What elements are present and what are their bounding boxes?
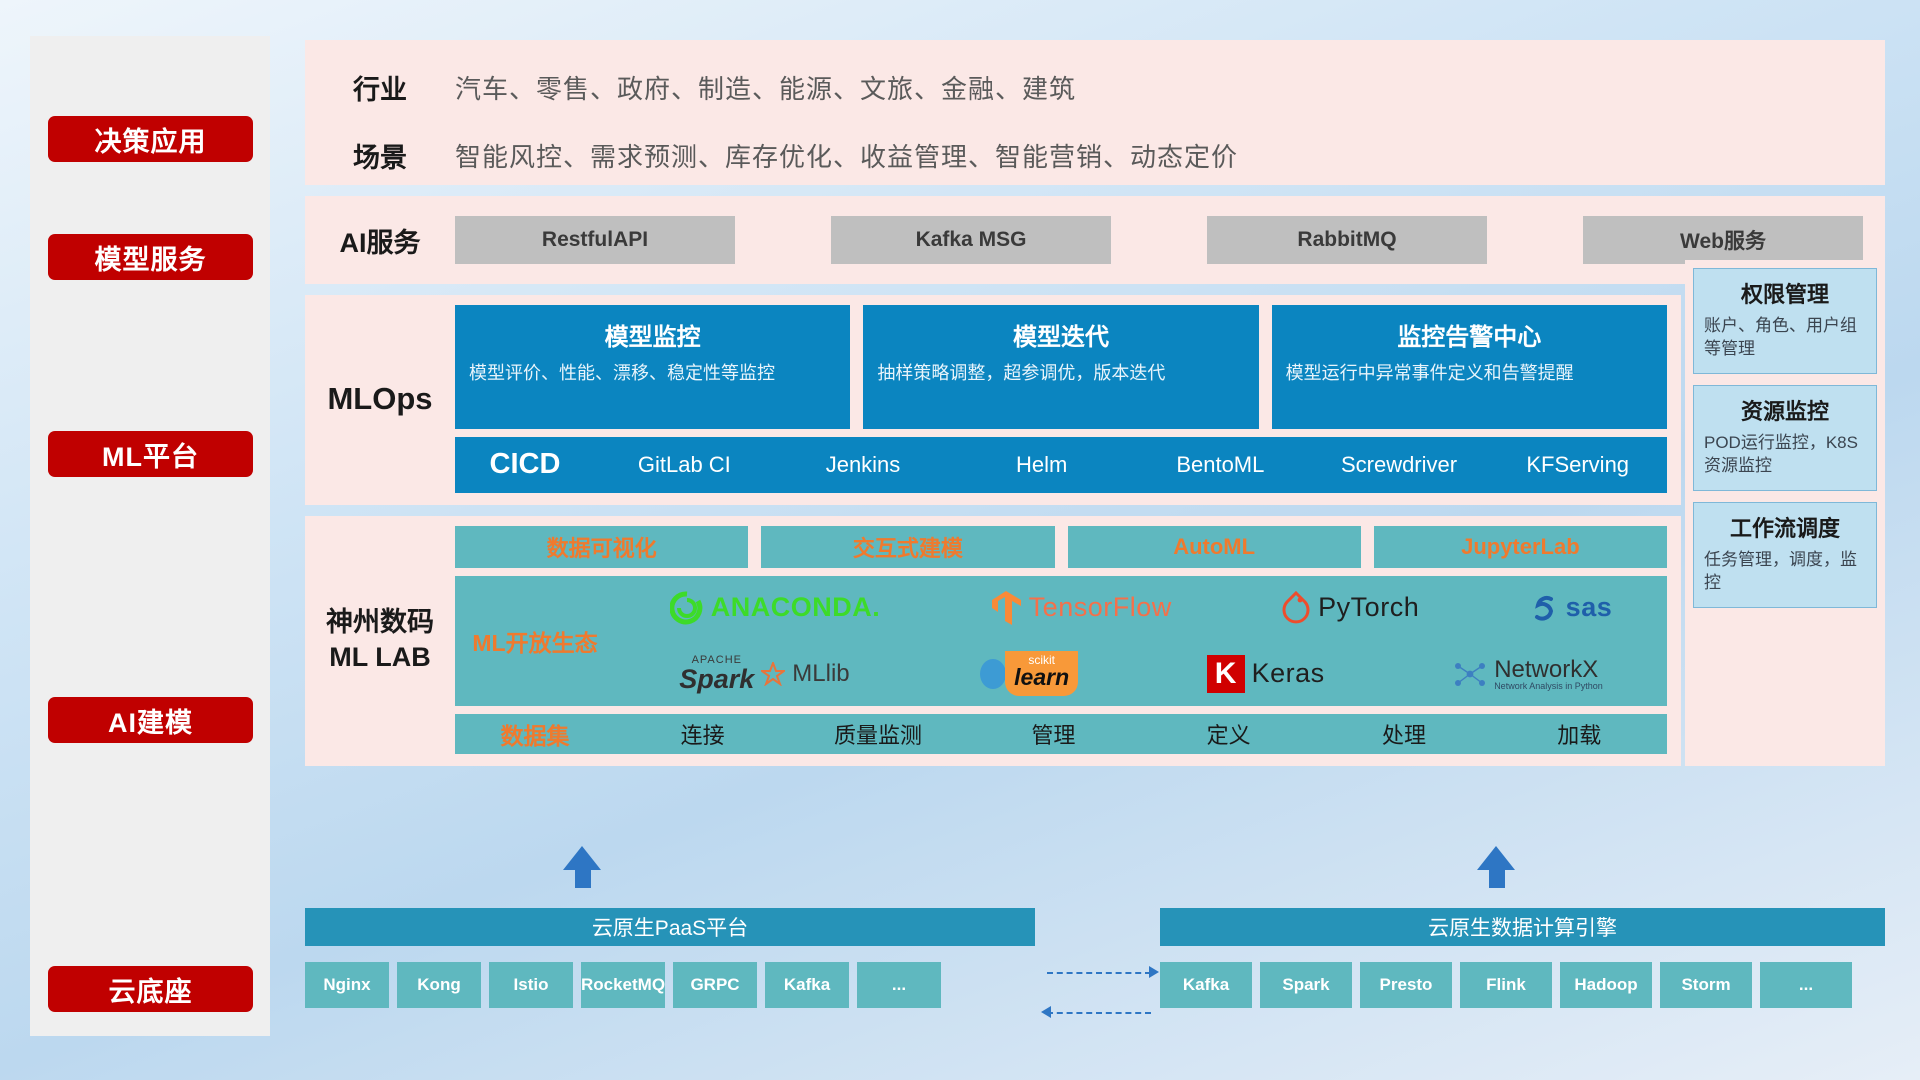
tensorflow-label: TensorFlow (1029, 592, 1172, 623)
dataset-item-define[interactable]: 定义 (1141, 718, 1316, 750)
cicd-item[interactable]: Helm (952, 451, 1131, 479)
tensorflow-logo: TensorFlow (990, 590, 1172, 626)
mlops-card[interactable]: 监控告警中心 模型运行中异常事件定义和告警提醒 (1272, 305, 1667, 429)
pytorch-label: PyTorch (1318, 592, 1419, 623)
paas-to-engine-connector (1047, 972, 1151, 974)
engine-chip-hadoop[interactable]: Hadoop (1560, 962, 1652, 1008)
scenario-value: 智能风控、需求预测、库存优化、收益管理、智能营销、动态定价 (455, 137, 1238, 174)
cicd-item[interactable]: GitLab CI (595, 451, 774, 479)
mlops-card[interactable]: 模型迭代 抽样策略调整，超参调优，版本迭代 (863, 305, 1258, 429)
rail-item-model-service[interactable]: 模型服务 (48, 234, 253, 280)
pytorch-icon (1281, 591, 1311, 625)
ml-lab-label: 神州数码 ML LAB (305, 526, 455, 754)
tool-tab-automl[interactable]: AutoML (1068, 526, 1361, 568)
panel-title: 工作流调度 (1704, 511, 1866, 543)
cicd-item[interactable]: BentoML (1131, 451, 1310, 479)
ml-ecosystem-label: ML开放生态 (455, 624, 615, 658)
mlops-card-title: 监控告警中心 (1286, 317, 1653, 352)
mlops-section: MLOps 模型监控 模型评价、性能、漂移、稳定性等监控 模型迭代 抽样策略调整… (305, 295, 1681, 505)
ml-platform-band: MLOps 模型监控 模型评价、性能、漂移、稳定性等监控 模型迭代 抽样策略调整… (305, 295, 1885, 505)
dataset-item-process[interactable]: 处理 (1316, 718, 1491, 750)
engine-chip-flink[interactable]: Flink (1460, 962, 1552, 1008)
paas-chip-istio[interactable]: Istio (489, 962, 573, 1008)
run-monitor-panel-resource[interactable]: 资源监控 POD运行监控，K8S资源监控 (1693, 385, 1877, 491)
mlops-card-list: 模型监控 模型评价、性能、漂移、稳定性等监控 模型迭代 抽样策略调整，超参调优，… (455, 305, 1667, 429)
mlops-card-desc: 模型评价、性能、漂移、稳定性等监控 (469, 361, 836, 385)
ai-service-chip[interactable]: Web服务 (1583, 216, 1863, 264)
dataset-item-connect[interactable]: 连接 (615, 718, 790, 750)
paas-chip-list: Nginx Kong Istio RocketMQ GRPC Kafka ... (305, 962, 941, 1008)
mlops-card[interactable]: 模型监控 模型评价、性能、漂移、稳定性等监控 (455, 305, 850, 429)
paas-chip-grpc[interactable]: GRPC (673, 962, 757, 1008)
dataset-row: 数据集 连接 质量监测 管理 定义 处理 加载 (455, 714, 1667, 754)
ml-lab-section: 神州数码 ML LAB 数据可视化 交互式建模 AutoML JupyterLa… (305, 516, 1681, 766)
cicd-bar: CICD GitLab CI Jenkins Helm BentoML Scre… (455, 437, 1667, 493)
networkx-icon (1453, 659, 1487, 689)
anaconda-icon (670, 591, 704, 625)
anaconda-logo: ANACONDA. (670, 591, 881, 625)
keras-label: Keras (1252, 658, 1325, 689)
ai-service-chip-list: RestfulAPI Kafka MSG RabbitMQ Web服务 (455, 216, 1885, 264)
paas-chip-kong[interactable]: Kong (397, 962, 481, 1008)
engine-chip-spark[interactable]: Spark (1260, 962, 1352, 1008)
layer-rail: 决策应用 模型服务 ML平台 AI建模 云底座 (30, 36, 270, 1036)
panel-desc: POD运行监控，K8S资源监控 (1704, 432, 1866, 478)
pytorch-logo: PyTorch (1281, 591, 1419, 625)
keras-logo: K Keras (1207, 655, 1325, 693)
networkx-tagline: Network Analysis in Python (1494, 682, 1603, 691)
panel-desc: 账户、角色、用户组等管理 (1704, 315, 1866, 361)
ml-lab-tool-tabs: 数据可视化 交互式建模 AutoML JupyterLab (455, 526, 1667, 568)
data-engine-bar[interactable]: 云原生数据计算引擎 (1160, 908, 1885, 946)
paas-chip-nginx[interactable]: Nginx (305, 962, 389, 1008)
spark-mllib-logo: APACHE Spark MLlib (679, 655, 849, 693)
ai-modeling-band: 神州数码 ML LAB 数据可视化 交互式建模 AutoML JupyterLa… (305, 516, 1885, 766)
ai-service-band: AI服务 RestfulAPI Kafka MSG RabbitMQ Web服务 (305, 196, 1885, 284)
industry-label: 行业 (305, 68, 455, 107)
mlops-card-desc: 模型运行中异常事件定义和告警提醒 (1286, 361, 1653, 385)
tool-tab-jupyterlab[interactable]: JupyterLab (1374, 526, 1667, 568)
tool-tab-data-visualization[interactable]: 数据可视化 (455, 526, 748, 568)
architecture-stack: 行业 汽车、零售、政府、制造、能源、文旅、金融、建筑 场景 智能风控、需求预测、… (305, 40, 1885, 766)
paas-up-arrow-stem (575, 868, 591, 888)
cicd-item[interactable]: Jenkins (774, 451, 953, 479)
applications-band: 行业 汽车、零售、政府、制造、能源、文旅、金融、建筑 场景 智能风控、需求预测、… (305, 40, 1885, 185)
mlops-card-desc: 抽样策略调整，超参调优，版本迭代 (877, 361, 1244, 385)
mlops-card-title: 模型迭代 (877, 317, 1244, 352)
engine-chip-presto[interactable]: Presto (1360, 962, 1452, 1008)
keras-icon: K (1207, 655, 1245, 693)
engine-up-arrow-icon (1477, 846, 1515, 870)
rail-item-decision-app[interactable]: 决策应用 (48, 116, 253, 162)
ai-service-chip[interactable]: RabbitMQ (1207, 216, 1487, 264)
engine-chip-more[interactable]: ... (1760, 962, 1852, 1008)
cicd-item[interactable]: KFServing (1488, 451, 1667, 479)
dataset-item-manage[interactable]: 管理 (966, 718, 1141, 750)
mlops-card-title: 模型监控 (469, 317, 836, 352)
ai-service-label: AI服务 (305, 221, 455, 260)
panel-title: 资源监控 (1704, 394, 1866, 426)
scenario-label: 场景 (305, 136, 455, 175)
industry-row: 行业 汽车、零售、政府、制造、能源、文旅、金融、建筑 (305, 62, 1885, 112)
paas-chip-more[interactable]: ... (857, 962, 941, 1008)
ecosystem-logo-row-2: APACHE Spark MLlib (615, 642, 1667, 706)
engine-chip-storm[interactable]: Storm (1660, 962, 1752, 1008)
paas-to-engine-arrowhead-icon (1149, 966, 1159, 978)
dataset-item-load[interactable]: 加载 (1492, 718, 1667, 750)
dataset-item-quality[interactable]: 质量监测 (790, 718, 965, 750)
run-monitor-panel-permission[interactable]: 权限管理 账户、角色、用户组等管理 (1693, 268, 1877, 374)
rail-item-ml-platform[interactable]: ML平台 (48, 431, 253, 477)
industry-value: 汽车、零售、政府、制造、能源、文旅、金融、建筑 (455, 69, 1076, 106)
ecosystem-logo-row-1: ANACONDA. TensorFlow (615, 576, 1667, 640)
panel-desc: 任务管理，调度，监控 (1704, 549, 1866, 595)
paas-up-arrow-icon (563, 846, 601, 870)
anaconda-label: ANACONDA. (711, 592, 881, 623)
networkx-logo: NetworkX Network Analysis in Python (1453, 657, 1603, 692)
engine-to-paas-connector (1047, 1012, 1151, 1014)
rail-item-cloud-base[interactable]: 云底座 (48, 966, 253, 1012)
ml-lab-label-line1: 神州数码 (326, 605, 434, 640)
engine-to-paas-arrowhead-icon (1041, 1006, 1051, 1018)
sas-icon (1529, 593, 1559, 623)
sas-logo: sas (1529, 592, 1613, 623)
rail-item-ai-modeling[interactable]: AI建模 (48, 697, 253, 743)
paas-platform-bar[interactable]: 云原生PaaS平台 (305, 908, 1035, 946)
ml-lab-label-line2: ML LAB (329, 640, 431, 675)
cicd-title: CICD (455, 448, 595, 481)
networkx-label: NetworkX (1494, 657, 1603, 682)
ml-ecosystem-row: ML开放生态 ANACONDA. (455, 576, 1667, 706)
spark-label: Spark (679, 666, 754, 693)
paas-chip-rocketmq[interactable]: RocketMQ (581, 962, 665, 1008)
ai-service-chip[interactable]: RestfulAPI (455, 216, 735, 264)
run-monitor-panel-workflow[interactable]: 工作流调度 任务管理，调度，监控 (1693, 502, 1877, 608)
cloud-base-band: 云原生PaaS平台 云原生数据计算引擎 Nginx Kong Istio Roc… (305, 880, 1885, 1050)
scikit-blob-icon (978, 657, 1008, 691)
panel-title: 权限管理 (1704, 277, 1866, 309)
scikit-bottom-label: learn (1014, 666, 1069, 689)
scenario-row: 场景 智能风控、需求预测、库存优化、收益管理、智能营销、动态定价 (305, 130, 1885, 180)
engine-chip-kafka[interactable]: Kafka (1160, 962, 1252, 1008)
paas-chip-kafka[interactable]: Kafka (765, 962, 849, 1008)
scikit-learn-logo: scikit learn (978, 651, 1078, 696)
cicd-item[interactable]: Screwdriver (1310, 451, 1489, 479)
run-monitor-panel-list: 权限管理 账户、角色、用户组等管理 资源监控 POD运行监控，K8S资源监控 工… (1685, 260, 1885, 618)
dataset-label: 数据集 (455, 717, 615, 751)
spark-star-icon (761, 662, 785, 686)
sas-label: sas (1566, 592, 1613, 623)
tensorflow-icon (990, 590, 1022, 626)
engine-up-arrow-stem (1489, 868, 1505, 888)
mllib-label: MLlib (792, 660, 849, 688)
ai-service-chip[interactable]: Kafka MSG (831, 216, 1111, 264)
tool-tab-interactive-modeling[interactable]: 交互式建模 (761, 526, 1054, 568)
mlops-label: MLOps (305, 305, 455, 493)
engine-chip-list: Kafka Spark Presto Flink Hadoop Storm ..… (1160, 962, 1852, 1008)
